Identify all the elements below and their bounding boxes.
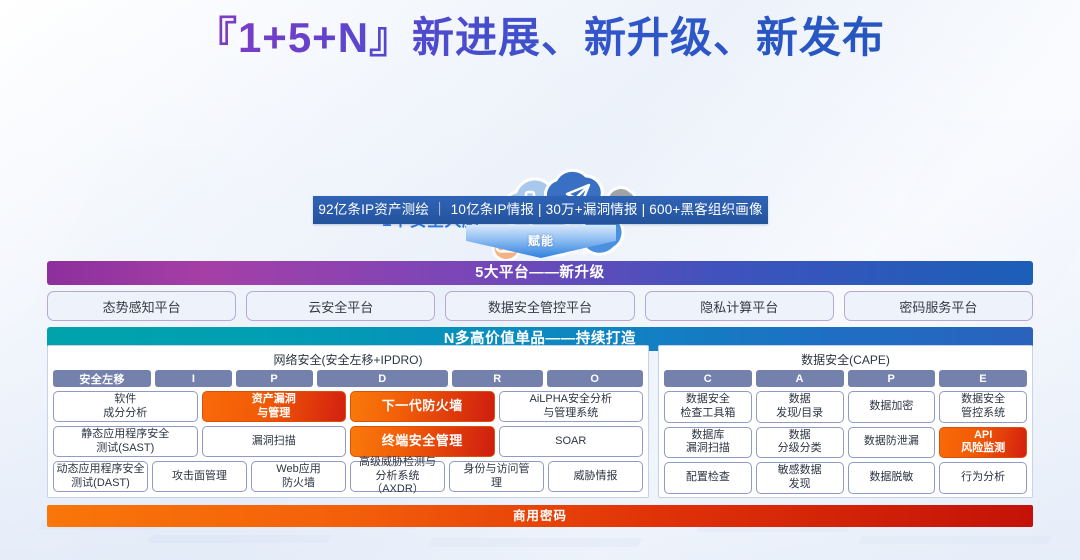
column-header-i: I	[155, 370, 232, 387]
product-panels: 网络安全(安全左移+IPDRO) 安全左移 I P D R O 软件成分分析 资…	[47, 345, 1033, 498]
data-column-p: P 数据加密 数据防泄漏 数据脱敏	[848, 370, 936, 494]
cell-dast[interactable]: 动态应用程序安全测试(DAST)	[53, 461, 148, 492]
enablement-arrow-label: 赋能	[466, 232, 616, 249]
data-column-a: A 数据发现/目录 数据分级分类 敏感数据发现	[756, 370, 844, 494]
cell-web-application-firewall[interactable]: Web应用防火墙	[251, 461, 346, 492]
slide-canvas: 『1+5+N』新进展、新升级、新发布	[0, 0, 1080, 560]
data-security-grid: C 数据安全检查工具箱 数据库漏洞扫描 配置检查 A 数据发现/目录 数据分级分…	[664, 370, 1027, 494]
column-header-c: C	[664, 370, 752, 387]
cell-data-encryption[interactable]: 数据加密	[848, 391, 936, 423]
column-header-shift-left: 安全左移	[53, 370, 151, 387]
data-column-c: C 数据安全检查工具箱 数据库漏洞扫描 配置检查	[664, 370, 752, 494]
cell-sast[interactable]: 静态应用程序安全测试(SAST)	[53, 426, 198, 457]
cell-behavior-analysis[interactable]: 行为分析	[939, 462, 1027, 494]
cell-data-classification[interactable]: 数据分级分类	[756, 427, 844, 459]
network-row-3: 动态应用程序安全测试(DAST) 攻击面管理 Web应用防火墙 高级威胁检测与分…	[53, 461, 643, 492]
commercial-cryptography-bar: 商用密码	[47, 505, 1033, 527]
cell-soar[interactable]: SOAR	[499, 426, 644, 457]
page-title: 『1+5+N』新进展、新升级、新发布	[0, 12, 1080, 65]
cell-api-risk-monitoring[interactable]: API风险监测	[939, 427, 1027, 459]
cell-threat-intelligence[interactable]: 威胁情报	[548, 461, 643, 492]
cell-data-leak-prevention[interactable]: 数据防泄漏	[848, 427, 936, 459]
cell-next-gen-firewall[interactable]: 下一代防火墙	[350, 391, 495, 422]
column-header-o: O	[547, 370, 643, 387]
cell-vulnerability-scanning[interactable]: 漏洞扫描	[202, 426, 347, 457]
cell-identity-access-management[interactable]: 身份与访问管理	[449, 461, 544, 492]
cell-data-security-toolkit[interactable]: 数据安全检查工具箱	[664, 391, 752, 423]
data-security-panel-title: 数据安全(CAPE)	[664, 350, 1027, 370]
security-brain-illustration: AI大型模型 1个安全大脑	[0, 84, 1080, 186]
cell-axdr[interactable]: 高级威胁检测与分析系统（AXDR）	[350, 461, 445, 492]
column-header-d: D	[317, 370, 449, 387]
platform-item-crypto-service[interactable]: 密码服务平台	[844, 291, 1033, 321]
data-security-panel: 数据安全(CAPE) C 数据安全检查工具箱 数据库漏洞扫描 配置检查 A 数据…	[658, 345, 1033, 498]
platform-list: 态势感知平台 云安全平台 数据安全管控平台 隐私计算平台 密码服务平台	[47, 291, 1033, 321]
cell-data-discovery-catalog[interactable]: 数据发现/目录	[756, 391, 844, 423]
platform-item-privacy-computing[interactable]: 隐私计算平台	[645, 291, 834, 321]
platform-item-data-security-control[interactable]: 数据安全管控平台	[445, 291, 634, 321]
network-row-2: 静态应用程序安全测试(SAST) 漏洞扫描 终端安全管理 SOAR	[53, 426, 643, 457]
network-security-panel: 网络安全(安全左移+IPDRO) 安全左移 I P D R O 软件成分分析 资…	[47, 345, 649, 498]
data-column-e: E 数据安全管控系统 API风险监测 行为分析	[939, 370, 1027, 494]
platform-item-cloud-security[interactable]: 云安全平台	[246, 291, 435, 321]
cell-data-masking[interactable]: 数据脱敏	[848, 462, 936, 494]
column-header-r: R	[452, 370, 542, 387]
cell-software-composition-analysis[interactable]: 软件成分分析	[53, 391, 198, 422]
column-header-p: P	[236, 370, 313, 387]
cell-asset-vulnerability-management[interactable]: 资产漏洞与管理	[202, 391, 347, 422]
network-security-panel-title: 网络安全(安全左移+IPDRO)	[53, 350, 643, 370]
network-column-headers: 安全左移 I P D R O	[53, 370, 643, 387]
cell-endpoint-security-management[interactable]: 终端安全管理	[350, 426, 495, 457]
capability-stats-strip: 92亿条IP资产测绘 ｜ 10亿条IP情报 | 30万+漏洞情报 | 600+黑…	[313, 196, 768, 224]
platform-item-situational-awareness[interactable]: 态势感知平台	[47, 291, 236, 321]
cell-ailpha-analysis-system[interactable]: AiLPHA安全分析与管理系统	[499, 391, 644, 422]
network-security-grid: 安全左移 I P D R O 软件成分分析 资产漏洞与管理 下一代防火墙 AiL…	[53, 370, 643, 492]
cell-data-security-control-system[interactable]: 数据安全管控系统	[939, 391, 1027, 423]
network-row-1: 软件成分分析 资产漏洞与管理 下一代防火墙 AiLPHA安全分析与管理系统	[53, 391, 643, 422]
column-header-p-data: P	[848, 370, 936, 387]
cell-attack-surface-management[interactable]: 攻击面管理	[152, 461, 247, 492]
platform-band-title: 5大平台——新升级	[47, 261, 1033, 285]
column-header-a: A	[756, 370, 844, 387]
cell-configuration-check[interactable]: 配置检查	[664, 462, 752, 494]
column-header-e: E	[939, 370, 1027, 387]
cell-database-vuln-scan[interactable]: 数据库漏洞扫描	[664, 427, 752, 459]
cell-sensitive-data-discovery[interactable]: 敏感数据发现	[756, 462, 844, 494]
